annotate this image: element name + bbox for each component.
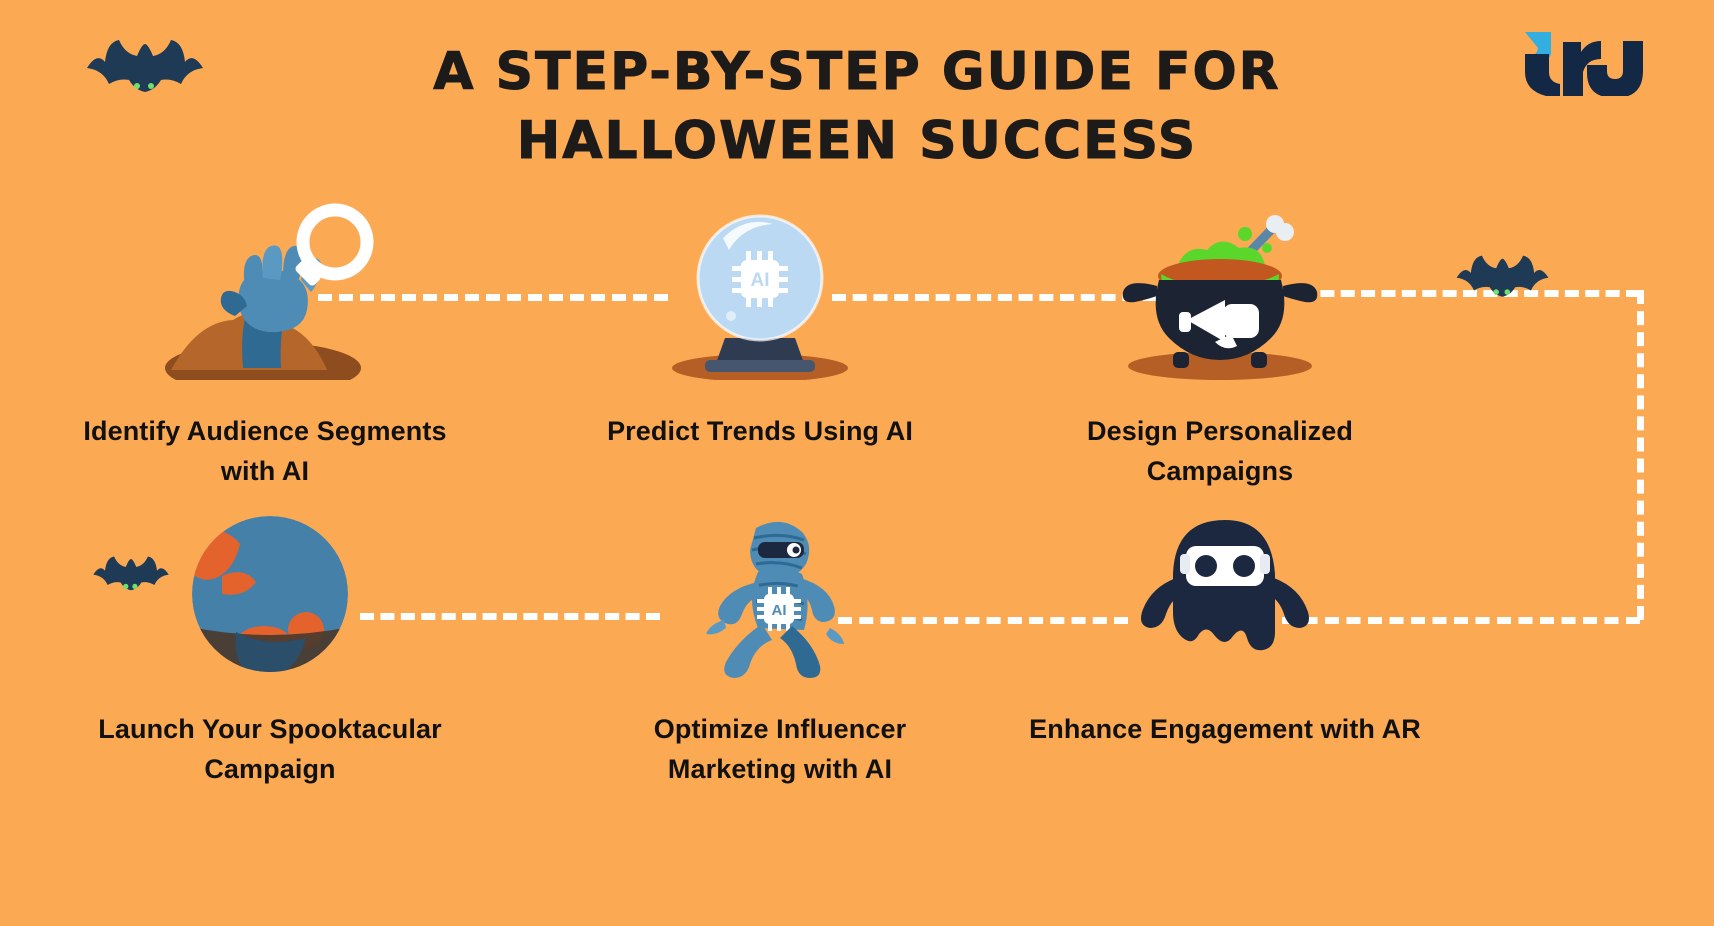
vr-goggles-icon — [1180, 546, 1270, 586]
cauldron-leg-left — [1173, 352, 1189, 368]
step-design-campaigns[interactable]: Design Personalized Campaigns — [1040, 200, 1400, 492]
bat-wings — [87, 40, 203, 92]
magnifier-icon — [294, 210, 367, 287]
title-line-1: A Step-by-Step Guide for — [0, 38, 1714, 107]
title-line-2: Halloween Success — [0, 107, 1714, 176]
cauldron-megaphone-icon — [1095, 200, 1345, 380]
bone-end-2 — [1276, 223, 1294, 241]
ghost-vr-icon — [1120, 512, 1330, 680]
vr-lens-left — [1195, 555, 1217, 577]
mummy-leg-left — [724, 624, 772, 678]
connector-vertical-right — [1637, 290, 1644, 620]
mummy-bandage-strip-1 — [706, 620, 726, 634]
vr-strap-left — [1180, 554, 1190, 574]
bat-wings — [1457, 256, 1549, 297]
bat-eye-left — [1493, 289, 1499, 295]
vr-lens-right — [1233, 555, 1255, 577]
step-label: Predict Trends Using AI — [585, 412, 935, 452]
cauldron-leg-right — [1251, 352, 1267, 368]
step-enhance-engagement[interactable]: Enhance Engagement with AR — [1020, 512, 1430, 750]
potion-bubble-2 — [1262, 243, 1272, 253]
ai-chip-label: AI — [751, 270, 770, 291]
logo-letter-t — [1525, 54, 1560, 96]
cauldron-handle-right — [1283, 283, 1317, 302]
zombie-finger-1 — [244, 255, 262, 288]
step-label: Launch Your Spooktacular Campaign — [50, 710, 490, 790]
ball-highlight-small — [726, 311, 736, 321]
vr-strap-right — [1260, 554, 1270, 574]
mummy-leg-right — [780, 626, 820, 678]
step-predict-trends[interactable]: AI Predict Trends Using AI — [585, 200, 935, 452]
page-title: A Step-by-Step Guide for Halloween Succe… — [0, 38, 1714, 175]
cauldron-handle-left — [1123, 283, 1157, 302]
mummy-ai-icon: AI — [680, 512, 880, 680]
crystal-ball-ai-icon: AI — [645, 200, 875, 380]
zombie-hand-magnifier-icon — [135, 200, 395, 380]
step-optimize-influencer[interactable]: AI Optimize Influencer Marketing with AI — [600, 512, 960, 790]
step-label: Optimize Influencer Marketing with AI — [600, 710, 960, 790]
mummy-bandage-strip-2 — [826, 628, 844, 644]
step-identify-audience[interactable]: Identify Audience Segments with AI — [70, 200, 460, 492]
tru-logo[interactable] — [1515, 24, 1645, 96]
bat-right-corner-icon — [1455, 246, 1550, 313]
step-label: Identify Audience Segments with AI — [70, 412, 460, 492]
bat-eye-left — [134, 83, 140, 89]
ai-chip-label: AI — [772, 602, 787, 619]
step-label: Enhance Engagement with AR — [1020, 710, 1430, 750]
bat-top-left-icon — [85, 28, 205, 111]
globe-icon — [180, 512, 360, 680]
crystal-base-plate — [705, 360, 815, 372]
infographic-canvas: A Step-by-Step Guide for Halloween Succe… — [0, 0, 1714, 926]
mummy-pupil — [793, 547, 800, 554]
zombie-finger-2 — [262, 245, 282, 280]
step-launch-campaign[interactable]: Launch Your Spooktacular Campaign — [50, 512, 490, 790]
potion-bubble-1 — [1238, 227, 1252, 241]
step-label: Design Personalized Campaigns — [1040, 412, 1400, 492]
bat-eye-right — [1504, 289, 1510, 295]
bat-eye-right — [148, 83, 154, 89]
